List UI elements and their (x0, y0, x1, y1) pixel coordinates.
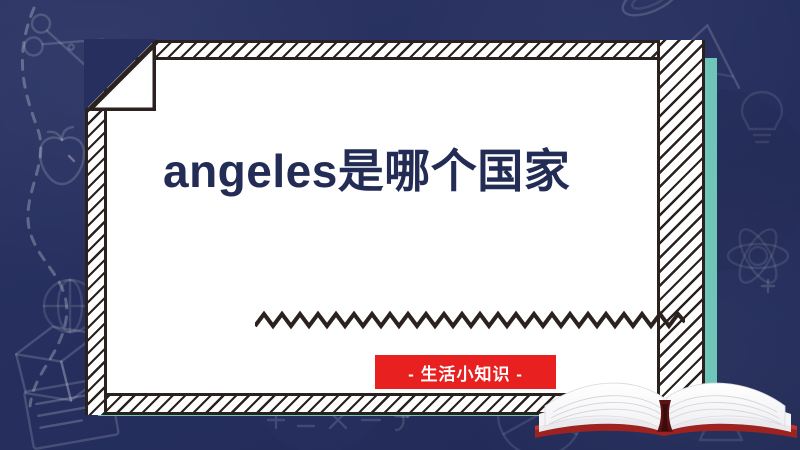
open-book-icon (533, 352, 800, 450)
page-title: angeles是哪个国家 (163, 148, 570, 194)
status-badge: - 生活小知识 - (375, 355, 556, 389)
folded-corner-icon (84, 39, 156, 111)
zigzag-divider-icon (255, 308, 685, 332)
card-inner-surface (107, 60, 657, 393)
slide-canvas: angeles是哪个国家 - 生活小知识 - (0, 0, 800, 450)
frame-edge-top (85, 40, 705, 60)
